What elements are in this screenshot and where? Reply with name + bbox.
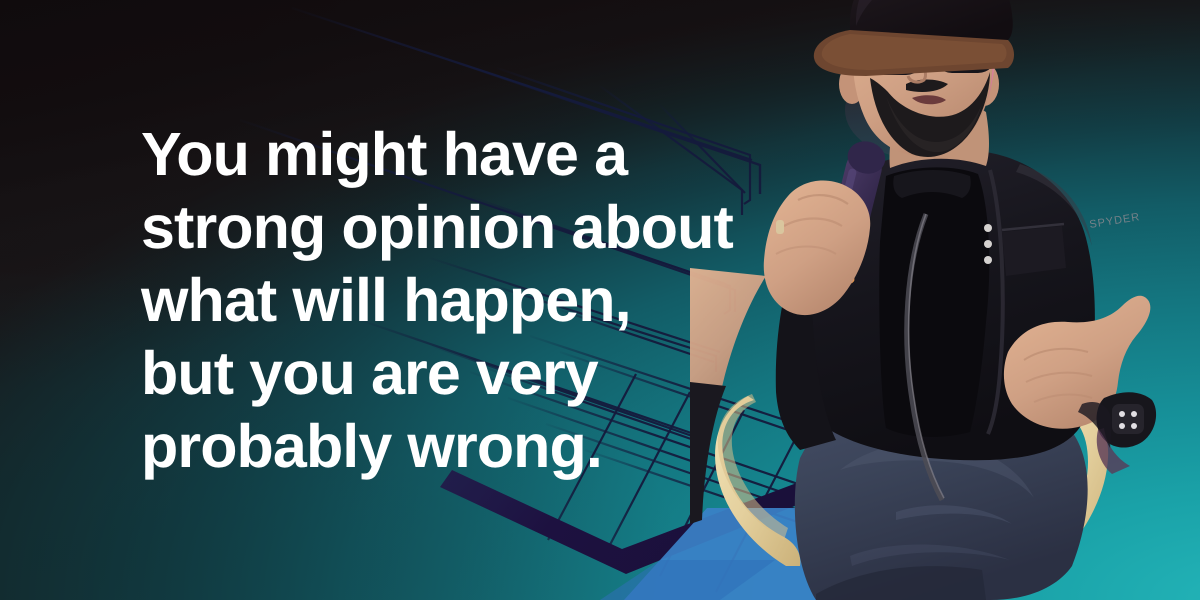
banner-canvas: SPYDER [0,0,1200,600]
cap [814,0,1014,76]
speaker-figure: SPYDER [690,0,1200,600]
headline-quote: You might have a strong opinion about wh… [141,118,761,483]
svg-text:SPYDER: SPYDER [1089,211,1141,231]
